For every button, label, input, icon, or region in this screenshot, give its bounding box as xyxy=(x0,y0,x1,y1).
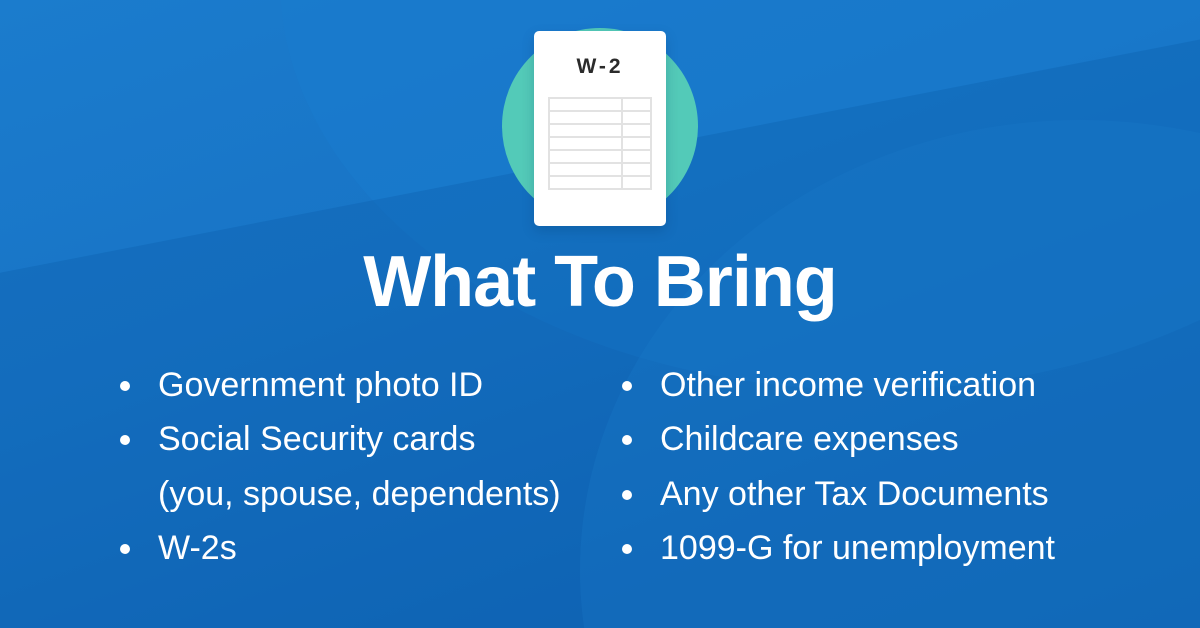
document-label: W-2 xyxy=(534,55,666,79)
document-table-cell xyxy=(623,112,652,125)
list-item: Any other Tax Documents xyxy=(620,467,1200,521)
list-item: Social Security cards (you, spouse, depe… xyxy=(118,412,600,521)
page-title: What To Bring xyxy=(0,246,1200,318)
document-table-cell xyxy=(623,164,652,177)
w2-document-icon: W-2 xyxy=(534,31,666,226)
list-item: Other income verification xyxy=(620,358,1200,412)
hero-graphic: W-2 xyxy=(0,24,1200,234)
checklist-columns: Government photo ID Social Security card… xyxy=(0,358,1200,576)
document-table-cell xyxy=(550,164,623,177)
document-table-cell xyxy=(623,125,652,138)
document-table-row xyxy=(550,151,652,164)
checklist-right: Other income verification Childcare expe… xyxy=(620,358,1200,576)
list-item: 1099-G for unemployment xyxy=(620,521,1200,575)
list-item: W-2s xyxy=(118,521,600,575)
document-table-graphic xyxy=(548,97,652,190)
checklist-column-left: Government photo ID Social Security card… xyxy=(0,358,600,576)
what-to-bring-banner: W-2 xyxy=(0,0,1200,628)
document-table-cell xyxy=(550,99,623,112)
list-item: Government photo ID xyxy=(118,358,600,412)
document-table-row xyxy=(550,164,652,177)
document-table-row xyxy=(550,138,652,151)
document-table-row xyxy=(550,125,652,138)
list-item: Childcare expenses xyxy=(620,412,1200,466)
document-table-row xyxy=(550,177,652,190)
document-table-cell xyxy=(550,151,623,164)
checklist-left: Government photo ID Social Security card… xyxy=(118,358,600,576)
document-table-cell xyxy=(550,125,623,138)
document-table-cell xyxy=(623,151,652,164)
document-table-row xyxy=(550,99,652,112)
document-table-cell xyxy=(550,138,623,151)
document-table-row xyxy=(550,112,652,125)
document-table-cell xyxy=(623,177,652,190)
document-table-cell xyxy=(550,112,623,125)
document-table-cell xyxy=(550,177,623,190)
document-table-cell xyxy=(623,99,652,112)
checklist-column-right: Other income verification Childcare expe… xyxy=(600,358,1200,576)
document-table-cell xyxy=(623,138,652,151)
